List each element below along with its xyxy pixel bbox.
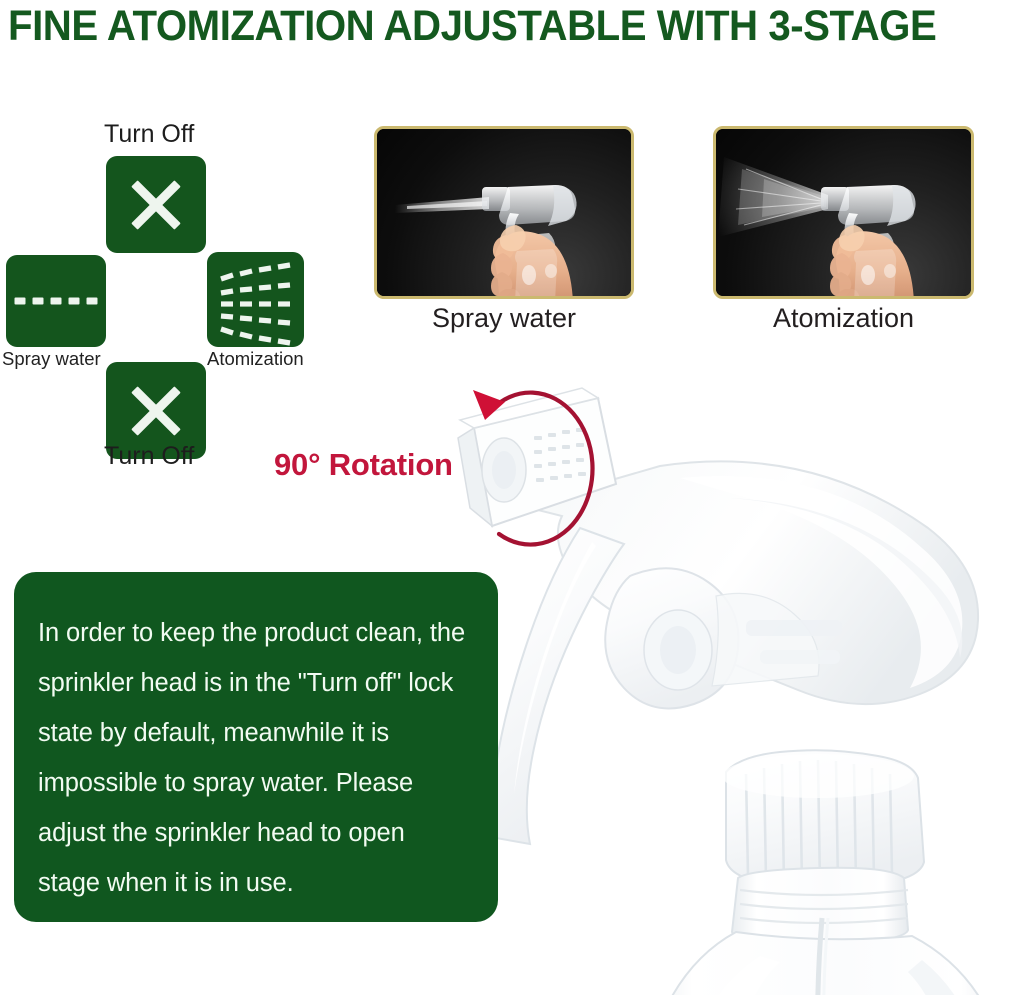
- mode-label-turn-off-top: Turn Off: [104, 120, 194, 149]
- mode-icon-spray-water[interactable]: [6, 255, 106, 347]
- photo-atomization: [713, 126, 974, 299]
- mode-label-turn-off-bottom: Turn Off: [104, 442, 194, 471]
- mode-label-spray-water: Spray water: [2, 348, 101, 370]
- mode-icon-turn-off-top[interactable]: [106, 156, 206, 253]
- rotation-label: 90° Rotation: [274, 447, 453, 483]
- mode-label-atomization: Atomization: [207, 348, 304, 370]
- mode-diagram: Turn Off: [0, 112, 330, 477]
- note-text: In order to keep the product clean, the …: [38, 608, 468, 908]
- photo-caption-atomization: Atomization: [713, 303, 974, 334]
- photo-caption-spray-water: Spray water: [374, 303, 634, 334]
- page-title: FINE ATOMIZATION ADJUSTABLE WITH 3-STAGE: [8, 0, 940, 52]
- mist-fan-icon: [207, 252, 304, 347]
- dashed-line-icon: [15, 298, 98, 305]
- photo-atomization-image: [716, 129, 971, 296]
- atomization-illustration: [716, 129, 971, 296]
- mode-icon-atomization[interactable]: [207, 252, 304, 347]
- photo-spray-water-image: [377, 129, 631, 296]
- spray-water-illustration: [377, 129, 631, 296]
- infographic-page: FINE ATOMIZATION ADJUSTABLE WITH 3-STAGE…: [0, 0, 1013, 995]
- note-box: In order to keep the product clean, the …: [14, 572, 498, 922]
- rotation-arrow-icon: [455, 372, 640, 552]
- photo-spray-water: [374, 126, 634, 299]
